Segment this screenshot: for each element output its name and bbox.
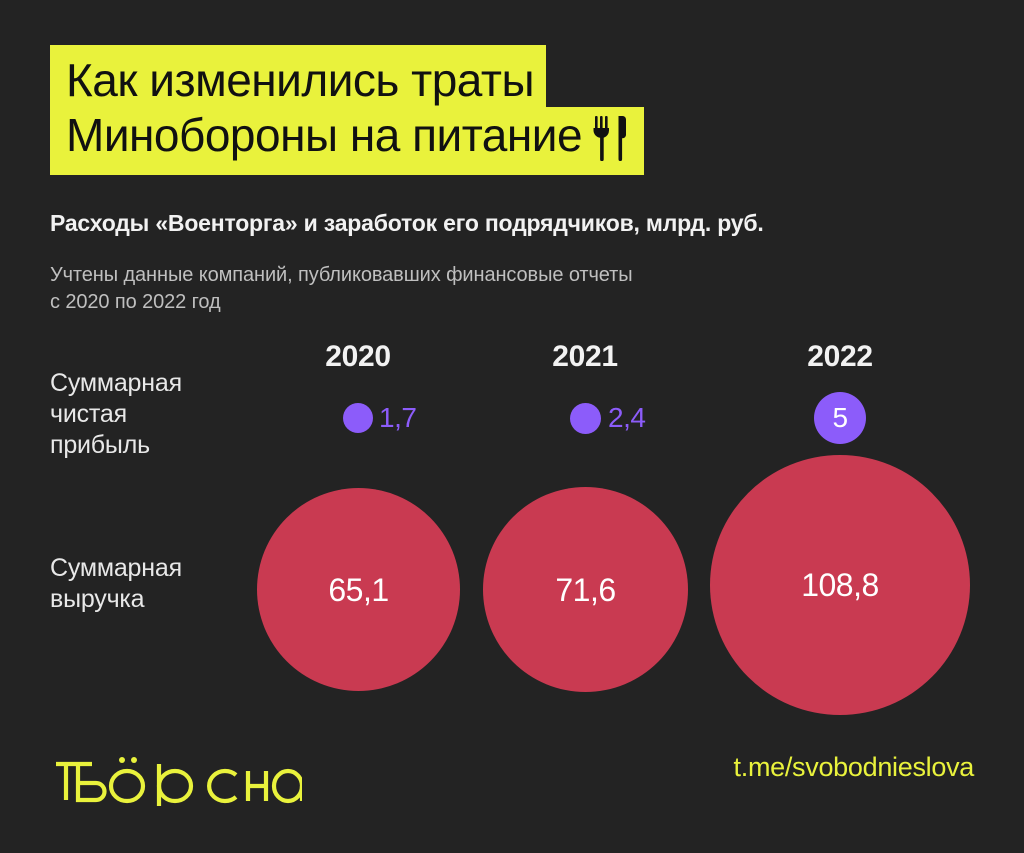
revenue-bubble-2022: 108,8: [710, 455, 970, 715]
page-title: Как изменились траты Минобороны на питан…: [50, 45, 644, 175]
methodology-note: Учтены данные компаний, публиковавших фи…: [50, 262, 633, 316]
profit-value-2020: 1,7: [379, 404, 416, 432]
revenue-value-2021: 71,6: [555, 574, 615, 606]
profit-value-2021: 2,4: [608, 404, 645, 432]
year-header-2022: 2022: [807, 340, 873, 374]
profit-bubble-2021: [570, 403, 601, 434]
title-line-2: Минобороны на питание: [50, 107, 644, 175]
fork-and-knife-icon: [592, 115, 632, 159]
revenue-value-2022: 108,8: [801, 569, 879, 601]
row-label-total-revenue: Суммарная выручка: [50, 553, 182, 615]
title-line-2-text: Минобороны на питание: [66, 107, 582, 163]
year-header-2020: 2020: [325, 340, 391, 374]
row-label-net-profit: Суммарная чистая прибыль: [50, 368, 182, 461]
profit-bubble-2020: [343, 403, 373, 433]
revenue-value-2020: 65,1: [328, 574, 388, 606]
revenue-bubble-2020: 65,1: [257, 488, 460, 691]
revenue-bubble-2021: 71,6: [483, 487, 688, 692]
year-header-2021: 2021: [552, 340, 618, 374]
title-line-1: Как изменились траты: [50, 45, 546, 107]
infographic-canvas: Как изменились траты Минобороны на питан…: [0, 0, 1024, 853]
profit-value-2022: 5: [832, 404, 847, 432]
telegram-link[interactable]: t.me/svobodnieslova: [734, 752, 974, 783]
subtitle: Расходы «Военторга» и заработок его подр…: [50, 210, 764, 237]
profit-bubble-2022: 5: [814, 392, 866, 444]
verstka-logo[interactable]: вёрстка: [52, 744, 302, 806]
